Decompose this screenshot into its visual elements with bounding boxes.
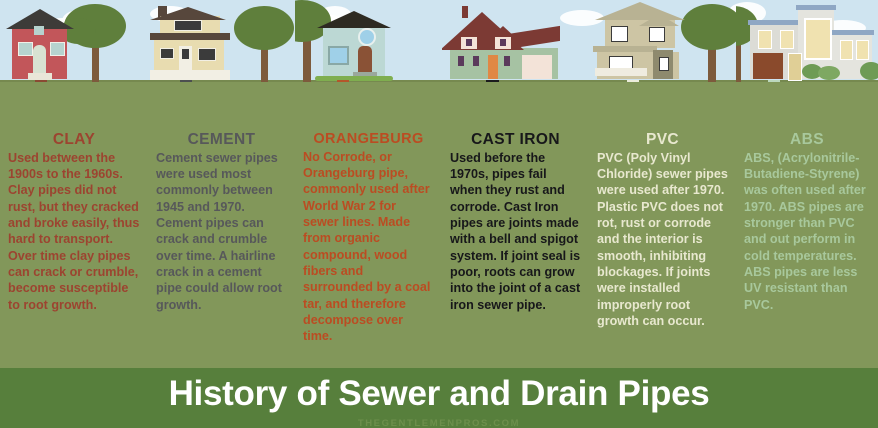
house-window	[458, 56, 464, 66]
infographic-poster: CLAY Used between the 1900s to the 1960s…	[0, 0, 878, 428]
house-door	[33, 45, 46, 73]
house-window	[659, 57, 669, 71]
garage-door	[522, 55, 552, 79]
house-window	[611, 26, 628, 42]
house-round-window	[358, 28, 376, 46]
column-title-clay: CLAY	[6, 132, 142, 148]
house-window	[34, 26, 44, 35]
house-window	[758, 30, 772, 49]
dormer-window	[466, 39, 472, 46]
house-window	[18, 42, 33, 56]
house-window	[856, 40, 869, 60]
column-cast-iron: CAST IRON Used before the 1970s, pipes f…	[442, 84, 589, 368]
scene-orangeburg	[295, 0, 442, 82]
house-lawn	[315, 76, 393, 81]
column-body-clay: Used between the 1900s to the 1960s. Cla…	[6, 150, 142, 314]
house-window	[198, 48, 216, 61]
house-lower-roof	[150, 33, 230, 40]
column-cement: CEMENT Cement sewer pipes were used most…	[148, 84, 295, 368]
house-roof	[317, 11, 391, 28]
tree-foliage	[681, 4, 736, 50]
house-window	[840, 40, 853, 60]
house-window	[649, 27, 665, 42]
column-title-pvc: PVC	[595, 132, 730, 148]
pipe-type-columns: CLAY Used between the 1900s to the 1960s…	[0, 84, 878, 368]
tree-foliage	[234, 6, 294, 50]
column-title-cement: CEMENT	[154, 132, 289, 148]
roof-band	[832, 30, 874, 35]
house-steps	[28, 73, 52, 80]
column-orangeburg: ORANGEBURG No Corrode, or Orangeburg pip…	[295, 84, 442, 368]
house-window	[504, 56, 510, 66]
chimney	[462, 6, 468, 18]
house-tall-window	[804, 18, 832, 60]
tree-trunk	[736, 40, 741, 82]
scene-clay	[0, 0, 148, 82]
dormer-window	[500, 39, 506, 46]
scene-cast-iron	[442, 0, 589, 82]
column-body-orangeburg: No Corrode, or Orangeburg pipe, commonly…	[301, 149, 436, 345]
column-title-orangeburg: ORANGEBURG	[301, 132, 436, 147]
column-body-pvc: PVC (Poly Vinyl Chloride) sewer pipes we…	[595, 150, 730, 330]
scene-pvc	[589, 0, 736, 82]
gable	[639, 14, 679, 26]
house-window	[50, 42, 65, 56]
column-body-abs: ABS, (Acrylonitrile-Butadiene-Styrene) w…	[742, 150, 872, 314]
house-door	[358, 46, 372, 72]
column-title-cast-iron: CAST IRON	[448, 132, 583, 148]
roof-band	[748, 20, 800, 25]
porch-railing	[595, 68, 647, 76]
house-window	[328, 46, 349, 65]
column-body-cement: Cement sewer pipes were used most common…	[154, 150, 289, 314]
house-upper-window	[174, 20, 202, 31]
house-door-glass	[182, 49, 189, 59]
scene-abs	[736, 0, 878, 82]
watermark-url: THEGENTLEMENPROS.COM	[0, 418, 878, 428]
poster-title: History of Sewer and Drain Pipes	[0, 374, 878, 414]
column-title-abs: ABS	[742, 132, 872, 148]
roof-band	[796, 5, 836, 10]
column-abs: ABS ABS, (Acrylonitrile-Butadiene-Styren…	[736, 84, 878, 368]
house-window	[160, 48, 174, 59]
garage-door	[753, 53, 783, 79]
house-door	[788, 53, 802, 81]
house-window	[780, 30, 794, 49]
title-bar: History of Sewer and Drain Pipes THEGENT…	[0, 368, 878, 428]
shrub	[818, 66, 840, 80]
column-pvc: PVC PVC (Poly Vinyl Chloride) sewer pipe…	[589, 84, 736, 368]
column-body-cast-iron: Used before the 1970s, pipes fail when t…	[448, 150, 583, 314]
house-window	[473, 56, 479, 66]
house-porch	[150, 70, 230, 80]
house-door	[488, 55, 498, 79]
scene-cement	[148, 0, 295, 82]
column-clay: CLAY Used between the 1900s to the 1960s…	[0, 84, 148, 368]
house-upper-roof	[150, 7, 226, 20]
shrub	[860, 62, 878, 80]
